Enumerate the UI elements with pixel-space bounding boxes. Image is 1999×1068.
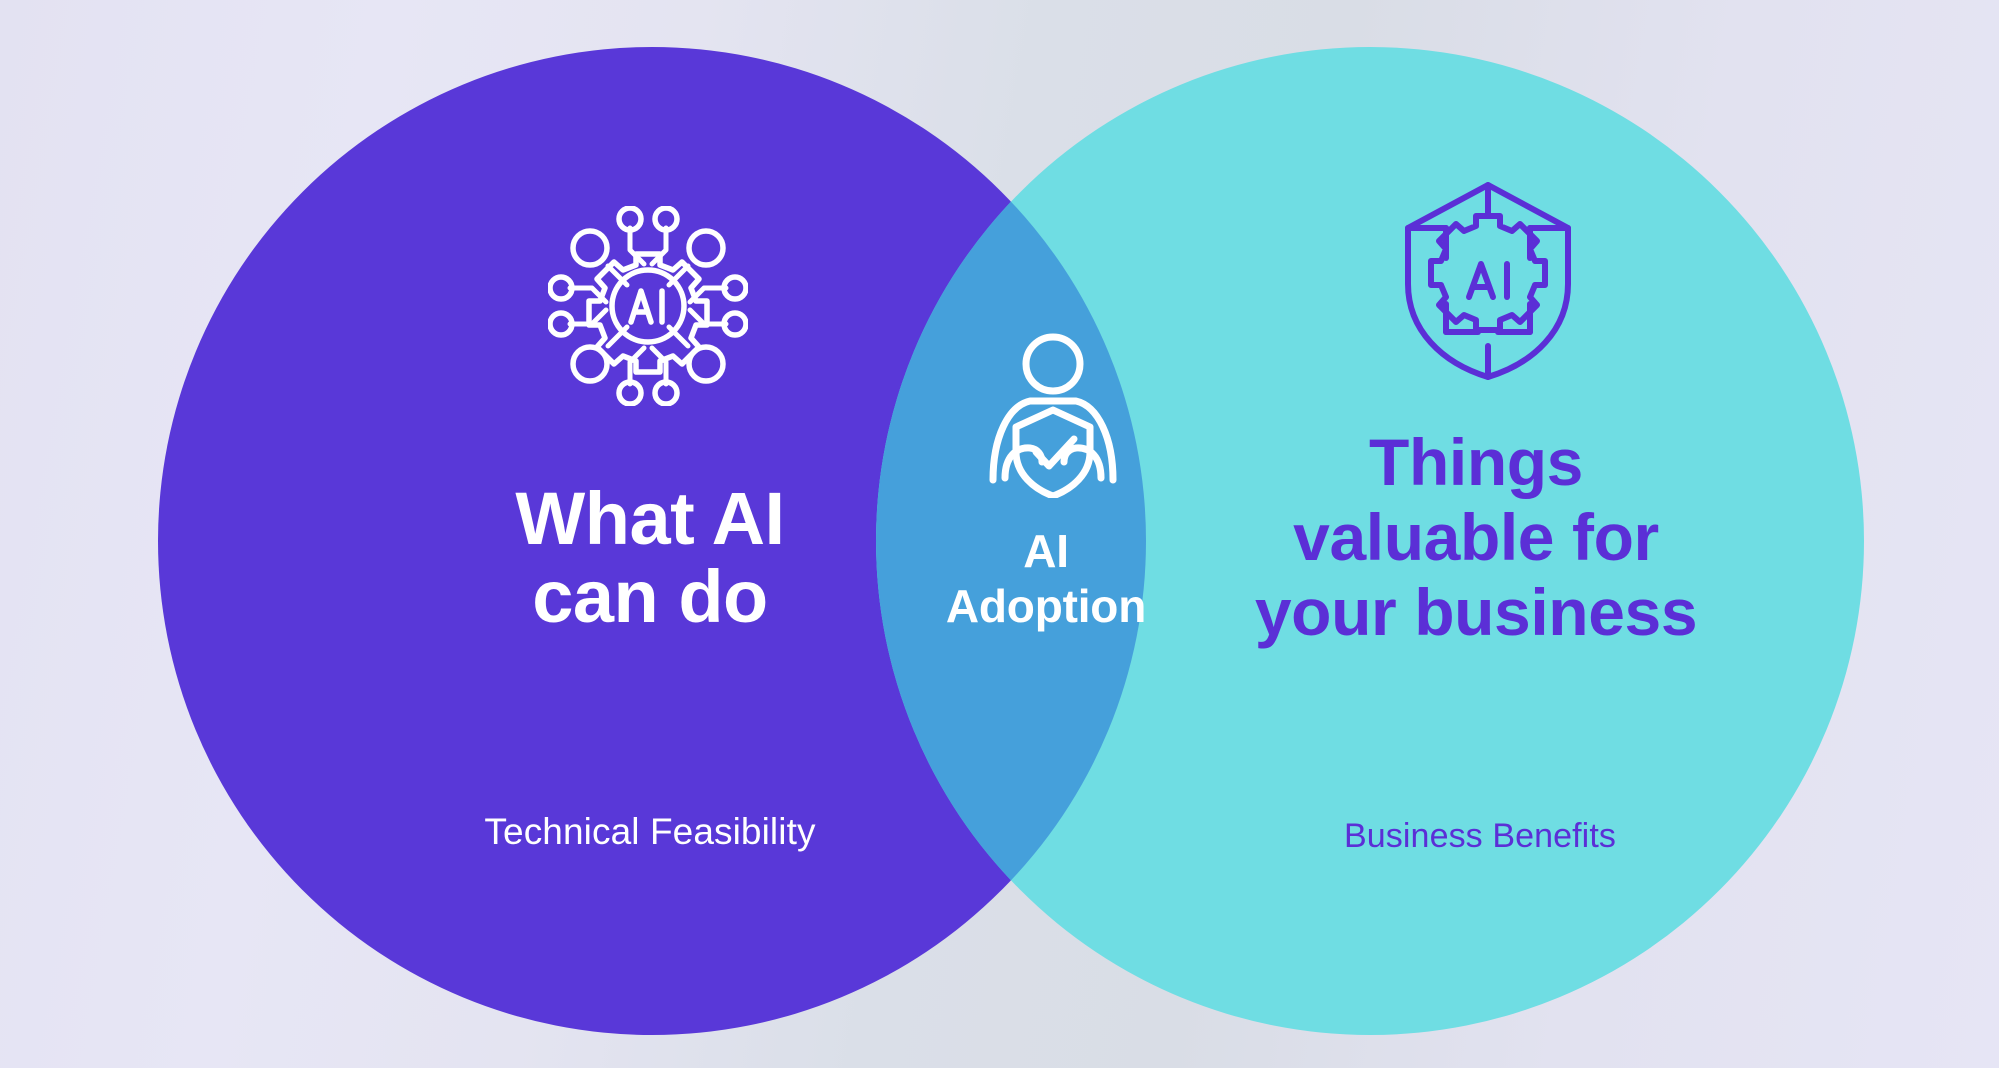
shield-ai-gear-icon <box>1400 180 1576 382</box>
right-set-title-line-1: Things <box>1096 425 1856 500</box>
left-set-subtitle: Technical Feasibility <box>300 812 1000 851</box>
right-set-subtitle: Business Benefits <box>1180 818 1780 854</box>
ai-network-gear-icon <box>548 206 748 406</box>
right-set-title: Things valuable for your business <box>1096 425 1856 651</box>
right-set-title-line-2: valuable for <box>1096 500 1856 575</box>
venn-diagram-canvas: What AI can do Technical Feasibility AI … <box>0 0 1999 1068</box>
right-set-title-line-3: your business <box>1096 575 1856 650</box>
